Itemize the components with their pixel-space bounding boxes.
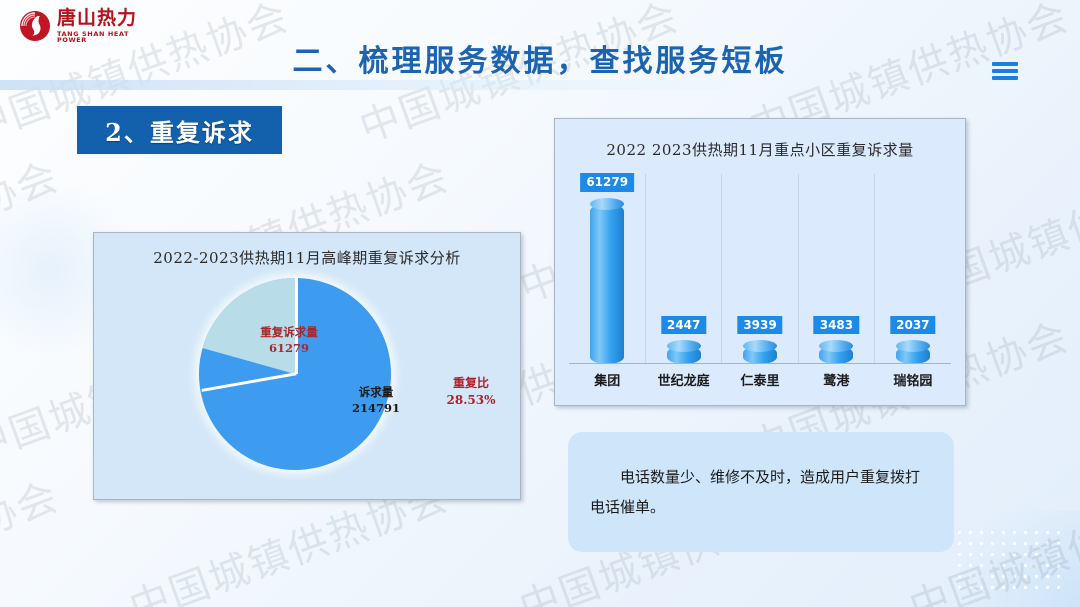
bar-category-label: 世纪龙庭 <box>645 370 721 389</box>
bar-chart-axis <box>569 363 951 364</box>
hamburger-menu-icon[interactable] <box>992 62 1018 80</box>
bar-category-label: 仁泰里 <box>722 370 798 389</box>
bar-chart-bars: 612792447393934832037 <box>569 174 951 364</box>
bar-value-label: 3939 <box>737 316 782 334</box>
pie-annotation-label: 重复比 <box>416 375 526 392</box>
pie-label-repeat-value: 61279 <box>229 341 349 357</box>
pie-annotation-value: 28.53% <box>416 392 526 409</box>
bar-category-label: 集团 <box>569 370 645 389</box>
bar-category-label: 鹭港 <box>798 370 874 389</box>
pie-label-repeat-name: 重复诉求量 <box>229 325 349 341</box>
section-tag: 2、重复诉求 <box>77 106 282 154</box>
watermark-text: 中国城镇供热协会 <box>0 464 66 607</box>
bar-value-label: 2447 <box>661 316 706 334</box>
pie-chart-graphic <box>199 278 391 470</box>
dot-grid-decoration <box>954 527 1062 589</box>
bar-column: 61279 <box>569 174 645 364</box>
section-tag-label: 2、重复诉求 <box>105 113 254 148</box>
bar <box>819 346 853 364</box>
bar-chart-panel: 2022 2023供热期11月重点小区重复诉求量 612792447393934… <box>554 118 966 406</box>
bar <box>896 346 930 364</box>
pie-chart-panel: 2022-2023供热期11月高峰期重复诉求分析 重复诉求量 61279 诉求量… <box>93 232 521 500</box>
bar-chart-title: 2022 2023供热期11月重点小区重复诉求量 <box>555 119 965 160</box>
pie-label-repeat: 重复诉求量 61279 <box>229 325 349 356</box>
bar-value-label: 3483 <box>814 316 859 334</box>
slide-header: 唐山热力 TANG SHAN HEAT POWER 二、梳理服务数据，查找服务短… <box>0 0 1080 88</box>
bar-category-label: 瑞铭园 <box>875 370 951 389</box>
bar <box>590 204 624 364</box>
summary-note-text: 电话数量少、维修不及时，造成用户重复拨打电话催单。 <box>568 462 954 522</box>
bar-value-label: 61279 <box>580 173 634 191</box>
bar <box>743 346 777 364</box>
page-title: 二、梳理服务数据，查找服务短板 <box>0 36 1080 80</box>
bar-column: 3483 <box>798 174 874 364</box>
logo-company-name-cn: 唐山热力 <box>57 9 150 28</box>
pie-chart-title: 2022-2023供热期11月高峰期重复诉求分析 <box>94 233 520 268</box>
bar-chart-plot: 612792447393934832037 <box>569 174 951 364</box>
bar-value-label: 2037 <box>890 316 935 334</box>
bar-column: 3939 <box>722 174 798 364</box>
bar-column: 2037 <box>875 174 951 364</box>
bar-chart-category-labels: 集团世纪龙庭仁泰里鹭港瑞铭园 <box>569 364 951 394</box>
summary-note-box: 电话数量少、维修不及时，造成用户重复拨打电话催单。 <box>568 432 954 552</box>
pie-annotation-ratio: 重复比 28.53% <box>416 375 526 409</box>
pie-chart-plot: 重复诉求量 61279 诉求量 214791 重复比 28.53% <box>94 268 520 483</box>
bar <box>667 346 701 364</box>
header-band <box>0 80 1080 90</box>
bar-column: 2447 <box>645 174 721 364</box>
